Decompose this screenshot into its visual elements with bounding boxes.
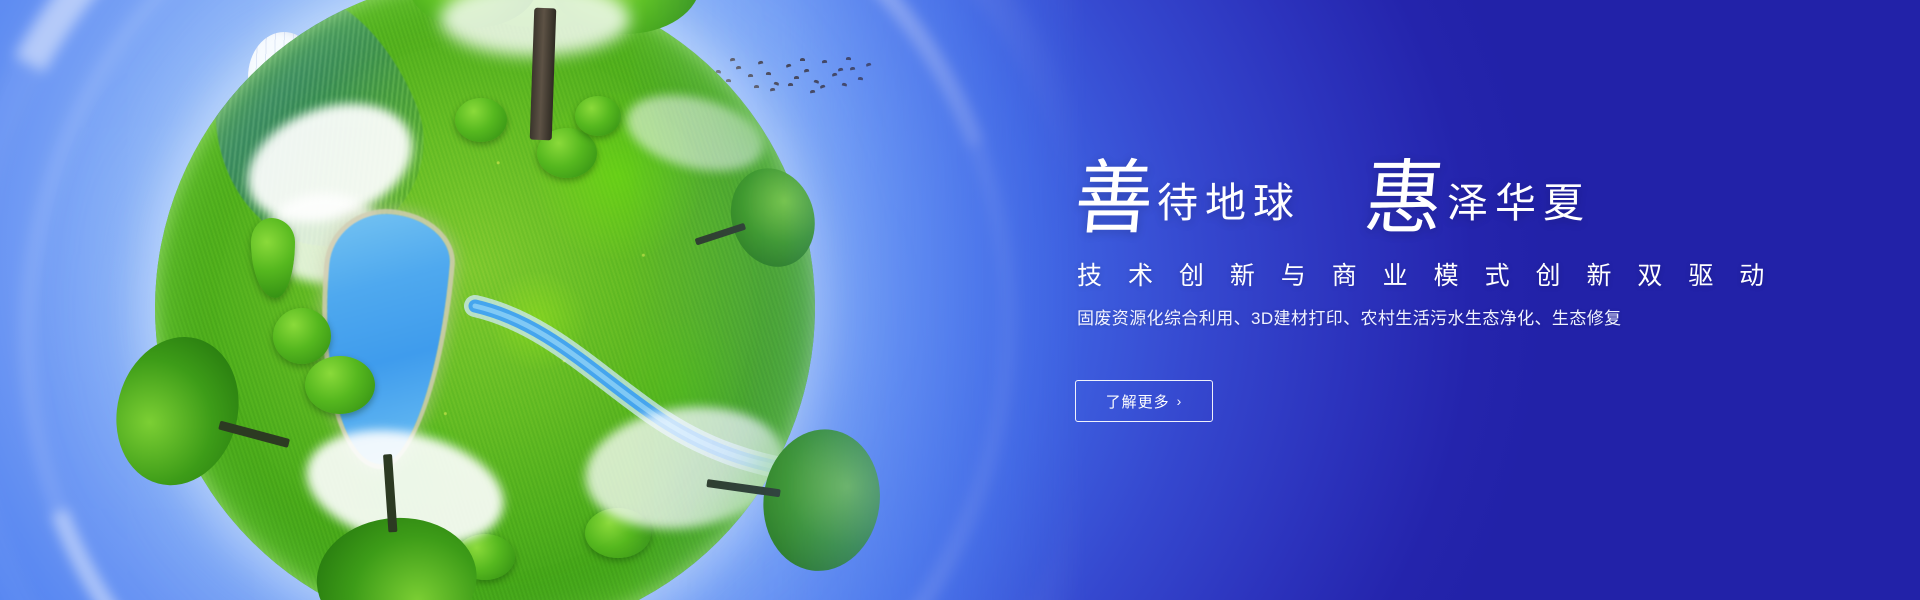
hero-subtitle: 技 术 创 新 与 商 业 模 式 创 新 双 驱 动 xyxy=(1077,256,1774,292)
headline-rest-2: 泽华夏 xyxy=(1447,183,1591,236)
rim-tree xyxy=(679,398,891,593)
bird xyxy=(850,67,855,71)
bird xyxy=(846,57,851,60)
tree-trunk xyxy=(530,8,557,141)
headline-brush-char-2: 惠 xyxy=(1362,163,1447,238)
bird xyxy=(820,84,826,89)
bird xyxy=(822,60,827,64)
bird xyxy=(838,67,844,71)
hero-description: 固废资源化综合利用、3D建材打印、农村生活污水生态净化、生态修复 xyxy=(1077,304,1622,329)
page-title: 善 待地球 惠 泽华夏 xyxy=(1075,142,1591,236)
globe-scene xyxy=(0,0,1120,600)
headline-brush-char-1: 善 xyxy=(1072,163,1157,238)
learn-more-label: 了解更多 xyxy=(1106,391,1170,412)
learn-more-button[interactable]: 了解更多 › xyxy=(1075,380,1213,422)
bird xyxy=(858,77,863,81)
headline-rest-1: 待地球 xyxy=(1157,183,1301,236)
hero-content: 善 待地球 惠 泽华夏 技 术 创 新 与 商 业 模 式 创 新 双 驱 动 … xyxy=(1075,0,1775,600)
chevron-right-icon: › xyxy=(1177,394,1183,408)
big-tree xyxy=(400,0,700,190)
bird xyxy=(842,82,848,86)
hero-banner: 善 待地球 惠 泽华夏 技 术 创 新 与 商 业 模 式 创 新 双 驱 动 … xyxy=(0,0,1920,600)
rim-tree xyxy=(293,434,496,600)
bird xyxy=(832,72,838,76)
